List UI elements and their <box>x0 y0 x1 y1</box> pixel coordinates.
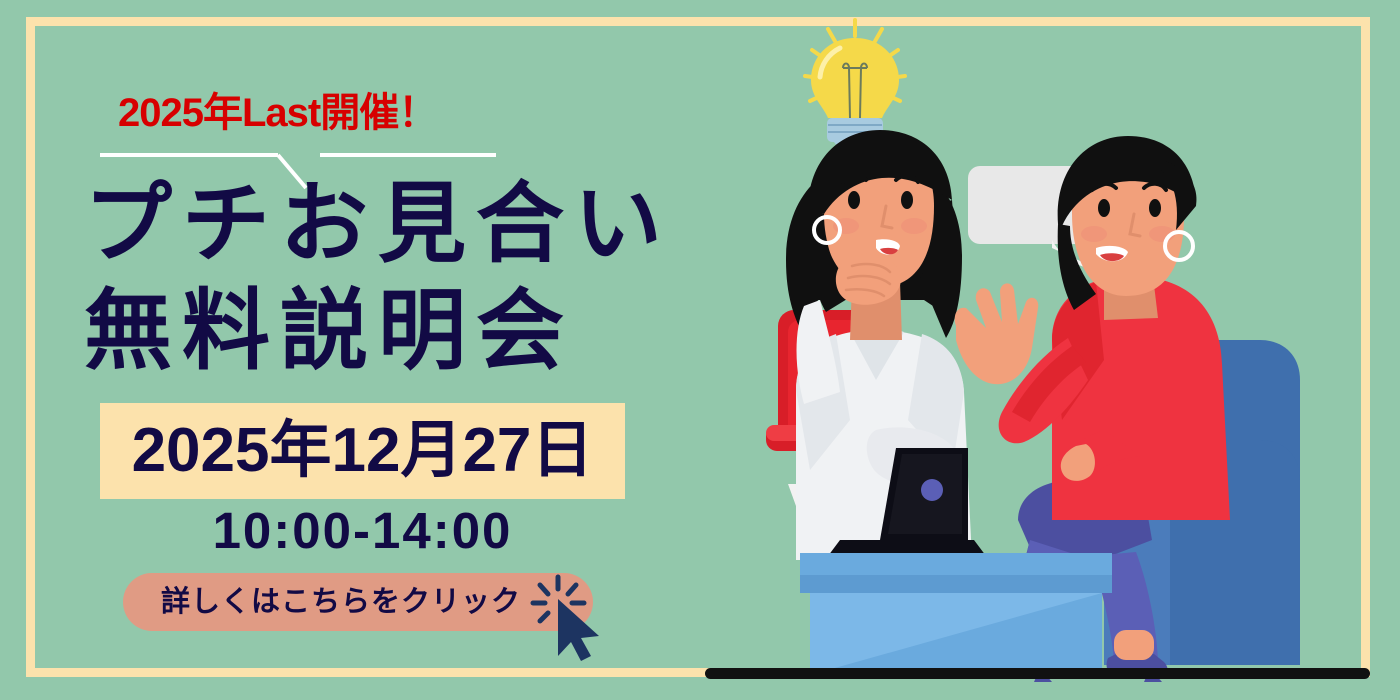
details-cta-button[interactable]: 詳しくはこちらをクリック <box>123 573 593 631</box>
banner-root: 2025年Last開催！ プチお見合い 無料説明会 2025年12月27日 10… <box>0 0 1400 700</box>
main-title-line-2: 無料説明会 <box>84 277 764 384</box>
floor-line <box>705 668 1370 679</box>
event-time: 10:00-14:00 <box>100 505 625 556</box>
lightbulb-idea-icon <box>805 20 905 150</box>
main-title-line-1: プチお見合い <box>84 170 764 277</box>
date-badge: 2025年12月27日 <box>100 403 625 499</box>
left-text-column: 2025年Last開催！ プチお見合い 無料説明会 2025年12月27日 10… <box>0 0 760 700</box>
meeting-illustration <box>700 0 1400 700</box>
event-date: 2025年12月27日 <box>132 420 594 482</box>
details-cta-label: 詳しくはこちらをクリック <box>161 588 555 617</box>
main-title: プチお見合い 無料説明会 <box>84 170 764 385</box>
kicker-text: 2025年Last開催！ <box>118 93 437 133</box>
desk <box>800 553 1112 675</box>
